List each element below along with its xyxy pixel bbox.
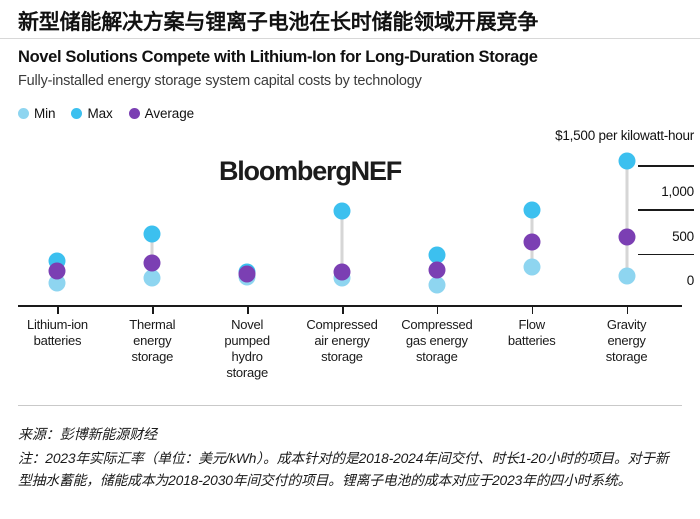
- y-tick-label-500: 500: [672, 229, 694, 244]
- x-tick-0: [57, 307, 59, 314]
- legend-label-min: Min: [34, 106, 55, 121]
- data-point-avg[interactable]: [523, 234, 540, 251]
- x-category-label-5: Flowbatteries: [485, 317, 578, 349]
- legend-swatch-max: [71, 108, 82, 119]
- gridline-1000: [638, 209, 694, 211]
- legend-item-average[interactable]: Average: [129, 106, 194, 121]
- data-point-avg[interactable]: [144, 255, 161, 272]
- data-group-3: [330, 128, 354, 308]
- data-group-1: [140, 128, 164, 308]
- x-category-label-3: Compressedair energystorage: [296, 317, 389, 365]
- data-point-avg[interactable]: [49, 263, 66, 280]
- data-point-avg[interactable]: [334, 264, 351, 281]
- x-tick-2: [247, 307, 249, 314]
- x-tick-1: [152, 307, 154, 314]
- chinese-headline: 新型储能解决方案与锂离子电池在长时储能领域开展竞争: [18, 6, 686, 36]
- range-connector: [625, 161, 628, 276]
- data-point-avg[interactable]: [239, 266, 256, 283]
- x-category-label-0: Lithium-ionbatteries: [11, 317, 104, 349]
- x-tick-4: [437, 307, 439, 314]
- legend-item-min[interactable]: Min: [18, 106, 55, 121]
- data-point-max[interactable]: [618, 152, 635, 169]
- x-category-label-2: Novelpumpedhydrostorage: [201, 317, 294, 381]
- data-point-max[interactable]: [523, 202, 540, 219]
- x-category-label-4: Compressedgas energystorage: [390, 317, 483, 365]
- data-point-avg[interactable]: [618, 228, 635, 245]
- x-category-label-1: Thermalenergystorage: [106, 317, 199, 365]
- note-text: 注：2023年实际汇率（单位：美元/kWh）。成本针对的是2018-2024年间…: [18, 448, 682, 492]
- data-group-2: [235, 128, 259, 308]
- chart-legend: Min Max Average: [18, 106, 194, 121]
- data-point-max[interactable]: [144, 226, 161, 243]
- x-category-label-6: Gravityenergystorage: [580, 317, 673, 365]
- legend-label-average: Average: [145, 106, 194, 121]
- gridline-1500: [638, 165, 694, 167]
- data-group-4: [425, 128, 449, 308]
- source-text: 来源：彭博新能源财经: [18, 424, 157, 444]
- data-point-min[interactable]: [523, 258, 540, 275]
- x-tick-5: [532, 307, 534, 314]
- chart-plot-area: $1,500 per kilowatt-hour BloombergNEF 05…: [0, 128, 700, 308]
- chart-subtitle: Fully-installed energy storage system ca…: [18, 73, 682, 89]
- data-group-0: [45, 128, 69, 308]
- chart-title: Novel Solutions Compete with Lithium-Ion…: [18, 48, 682, 67]
- data-group-6: [615, 128, 639, 308]
- x-tick-3: [342, 307, 344, 314]
- data-point-avg[interactable]: [428, 262, 445, 279]
- y-tick-label-1000: 1,000: [661, 184, 694, 199]
- legend-swatch-average: [129, 108, 140, 119]
- legend-swatch-min: [18, 108, 29, 119]
- footer-divider: [18, 405, 682, 406]
- y-tick-label-0: 0: [687, 273, 694, 288]
- data-group-5: [520, 128, 544, 308]
- legend-label-max: Max: [87, 106, 112, 121]
- header-divider: [0, 38, 700, 39]
- x-axis-line: [18, 305, 682, 307]
- data-point-max[interactable]: [334, 203, 351, 220]
- data-point-min[interactable]: [618, 267, 635, 284]
- legend-item-max[interactable]: Max: [71, 106, 112, 121]
- gridline-500: [638, 254, 694, 256]
- x-tick-6: [627, 307, 629, 314]
